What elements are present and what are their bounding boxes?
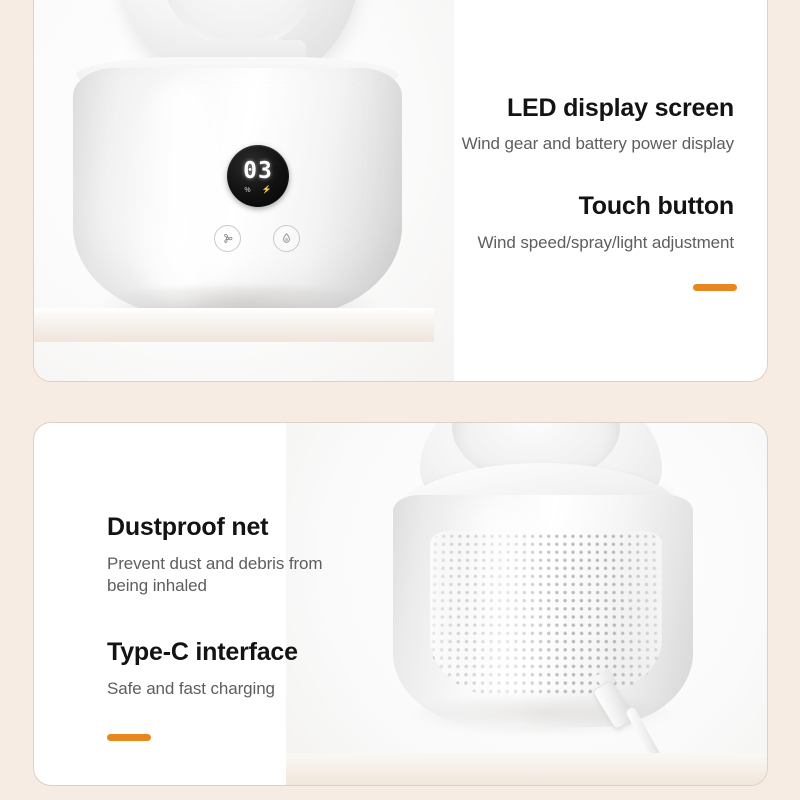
feature-title-led-display: LED display screen	[409, 95, 734, 123]
accent-bar-top-panel	[693, 284, 737, 291]
touch-button-fan[interactable]	[214, 225, 241, 252]
table-surface	[34, 308, 434, 342]
feature-subtitle-touch-button: Wind speed/spray/light adjustment	[409, 232, 734, 255]
led-gear-value: 03	[243, 160, 273, 183]
feature-title-dustproof-net: Dustproof net	[107, 514, 347, 542]
fan-icon	[221, 232, 234, 245]
feature-panel-dustproof-typec: Dustproof net Prevent dust and debris fr…	[33, 422, 768, 786]
feature-block-led-display: LED display screen Wind gear and battery…	[409, 95, 734, 155]
water-drop-icon	[280, 232, 293, 245]
led-display-screen: 03 % ⚡	[227, 145, 289, 207]
product-image-fan-control-closeup: 03 % ⚡	[34, 0, 434, 366]
body-highlight	[122, 82, 242, 308]
touch-button-spray[interactable]	[273, 225, 300, 252]
led-status-icons: % ⚡	[244, 186, 271, 194]
percent-icon: %	[244, 187, 250, 194]
panel-bottom-inner: Dustproof net Prevent dust and debris fr…	[34, 423, 767, 785]
feature-title-typec-interface: Type-C interface	[107, 639, 298, 667]
feature-block-dustproof-net: Dustproof net Prevent dust and debris fr…	[107, 514, 347, 598]
product-image-fan-base-closeup	[346, 423, 767, 785]
feature-subtitle-dustproof-net: Prevent dust and debris from being inhal…	[107, 553, 347, 599]
feature-block-touch-button: Touch button Wind speed/spray/light adju…	[409, 193, 734, 254]
table-surface	[286, 753, 767, 785]
feature-subtitle-typec-interface: Safe and fast charging	[107, 678, 298, 701]
product-feature-infographic: 03 % ⚡	[0, 0, 800, 800]
panel-top-inner: 03 % ⚡	[34, 0, 767, 381]
accent-bar-bottom-panel	[107, 734, 151, 741]
battery-bolt-icon: ⚡	[262, 186, 272, 194]
feature-subtitle-led-display: Wind gear and battery power display	[409, 133, 734, 156]
feature-title-touch-button: Touch button	[409, 193, 734, 221]
feature-block-typec-interface: Type-C interface Safe and fast charging	[107, 639, 298, 700]
body-highlight	[441, 505, 561, 719]
feature-panel-led-touch: 03 % ⚡	[33, 0, 768, 382]
